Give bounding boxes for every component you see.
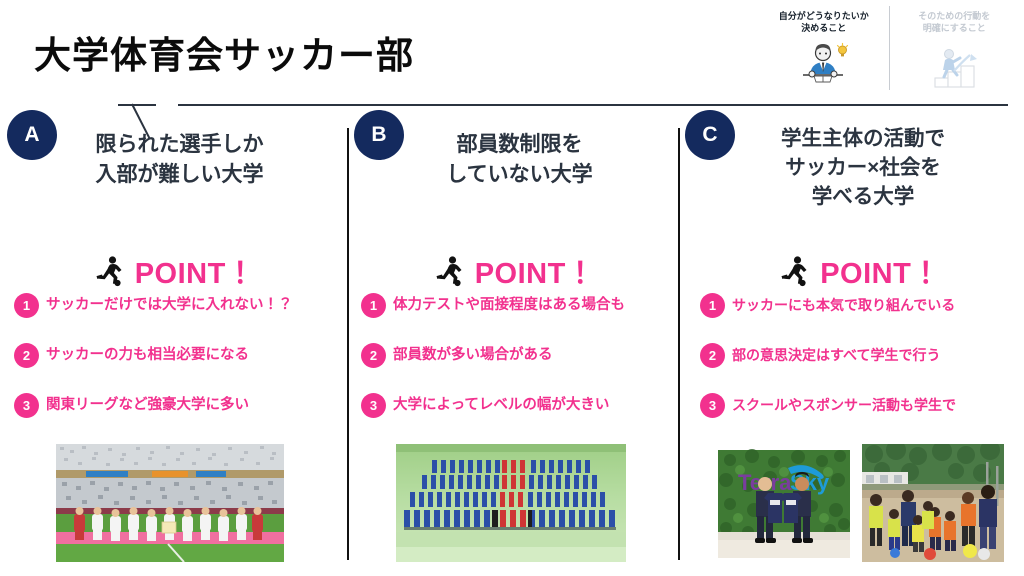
list-item: 3 スクールやスポンサー活動も学生で [700, 393, 1024, 418]
column-a-photos [56, 444, 284, 562]
list-item: 3 大学によってレベルの幅が大きい [361, 393, 690, 418]
point-number-badge: 2 [361, 343, 386, 368]
point-number-badge: 3 [14, 393, 39, 418]
running-soccer-player-icon [777, 254, 811, 288]
person-climbing-steps-arrow-icon [891, 37, 1019, 89]
title-rule-right-segment [178, 104, 1008, 106]
column-b-badge: B [354, 110, 404, 160]
point-number-badge: 3 [700, 393, 725, 418]
point-text: 部員数が多い場合がある [393, 347, 553, 364]
step-panel-active: 自分がどうなりたいか 決めること [760, 6, 888, 89]
top-right-step-panels: 自分がどうなりたいか 決めること [760, 6, 1018, 98]
running-soccer-player-icon [432, 254, 466, 288]
list-item: 2 サッカーの力も相当必要になる [14, 343, 361, 368]
person-reading-book-idea-icon [760, 37, 888, 89]
step-panel-muted: そのための行動を 明確にすること [891, 6, 1019, 89]
column-a: A 限られた選手しか 入部が難しい大学 POINT！ 1 サッカーだけでは大学に… [0, 108, 347, 576]
column-c-point-label: POINT！ [820, 250, 941, 292]
point-text: スクールやスポンサー活動も学生で [732, 397, 956, 414]
point-text: 関東リーグなど強豪大学に多い [46, 397, 249, 414]
column-b-point-heading: POINT！ [349, 250, 678, 292]
point-number-badge: 1 [700, 293, 725, 318]
list-item: 1 サッカーにも本気で取り組んでいる [700, 293, 1024, 318]
page-title: 大学体育会サッカー部 [34, 25, 414, 79]
point-text: 部の意思決定はすべて学生で行う [732, 347, 940, 364]
column-c-point-heading: POINT！ [680, 250, 1024, 292]
column-c-photos: Terra Sky [712, 444, 1004, 562]
list-item: 2 部の意思決定はすべて学生で行う [700, 343, 1024, 368]
step-panel-separator [889, 6, 890, 90]
step-panel-active-caption: 自分がどうなりたいか 決めること [760, 10, 888, 34]
point-text: サッカーの力も相当必要になる [46, 347, 249, 364]
title-rule-left-segment [118, 104, 156, 106]
step-panel-muted-caption: そのための行動を 明確にすること [891, 10, 1019, 34]
column-a-points-list: 1 サッカーだけでは大学に入れない！？ 2 サッカーの力も相当必要になる 3 関… [14, 293, 361, 443]
point-number-badge: 1 [14, 293, 39, 318]
point-number-badge: 2 [700, 343, 725, 368]
list-item: 1 サッカーだけでは大学に入れない！？ [14, 293, 361, 318]
column-c-points-list: 1 サッカーにも本気で取り組んでいる 2 部の意思決定はすべて学生で行う 3 ス… [700, 293, 1024, 443]
column-b-point-label: POINT！ [475, 250, 596, 292]
large-squad-photo [396, 444, 626, 562]
column-b-points-list: 1 体力テストや面接程度はある場合も 2 部員数が多い場合がある 3 大学によっ… [361, 293, 690, 443]
column-a-badge: A [7, 110, 57, 160]
sponsor-jersey-photo: Terra Sky [712, 444, 856, 562]
column-c-badge: C [685, 110, 735, 160]
column-a-point-heading: POINT！ [0, 250, 347, 292]
point-number-badge: 1 [361, 293, 386, 318]
column-b-photos [396, 444, 626, 562]
column-a-point-label: POINT！ [135, 250, 256, 292]
running-soccer-player-icon [92, 254, 126, 288]
point-number-badge: 3 [361, 393, 386, 418]
team-photo-stadium [56, 444, 284, 562]
point-text: サッカーにも本気で取り組んでいる [732, 297, 955, 314]
point-number-badge: 2 [14, 343, 39, 368]
point-text: 体力テストや面接程度はある場合も [393, 297, 625, 314]
point-text: 大学によってレベルの幅が大きい [393, 397, 609, 414]
soccer-school-photo [862, 444, 1004, 562]
point-text: サッカーだけでは大学に入れない！？ [46, 297, 293, 314]
list-item: 3 関東リーグなど強豪大学に多い [14, 393, 361, 418]
slide-root: 大学体育会サッカー部 自分がどうなりたいか 決めること [0, 0, 1024, 576]
list-item: 1 体力テストや面接程度はある場合も [361, 293, 690, 318]
column-b: B 部員数制限を していない大学 POINT！ 1 体力テストや面接程度はある場… [349, 108, 678, 576]
column-c: C 学生主体の活動で サッカー×社会を 学べる大学 POINT！ 1 サッカーに… [680, 108, 1024, 576]
list-item: 2 部員数が多い場合がある [361, 343, 690, 368]
